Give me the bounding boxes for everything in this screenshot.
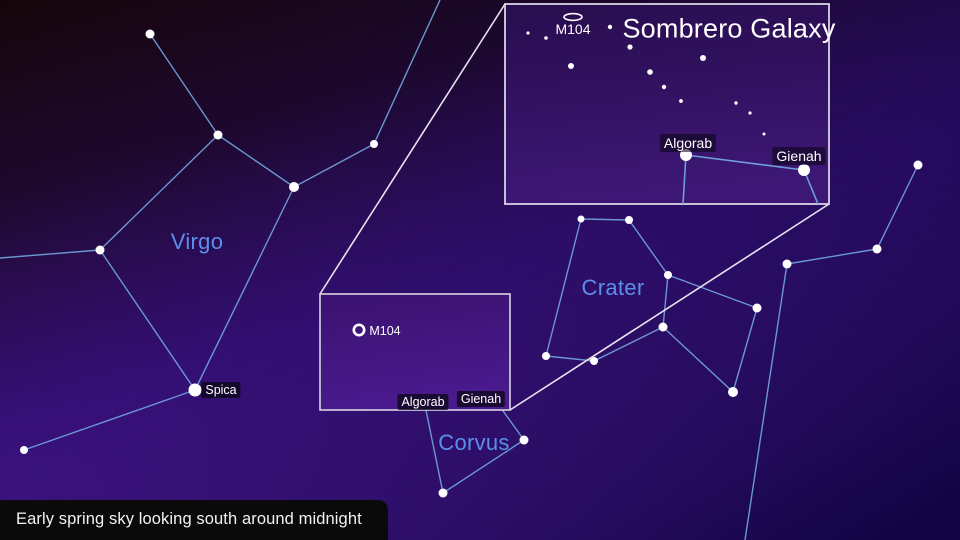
- inset-box[interactable]: [505, 4, 829, 204]
- star-chart-stage: VirgoCraterCorvusSpicaAlgorabGienahM104A…: [0, 0, 960, 540]
- star[interactable]: [542, 352, 550, 360]
- inset-star[interactable]: [647, 69, 653, 75]
- star[interactable]: [753, 304, 762, 313]
- inset-star[interactable]: [568, 63, 574, 69]
- inset-star[interactable]: [662, 85, 666, 89]
- inset-star[interactable]: [798, 164, 810, 176]
- inset-panel: [505, 4, 829, 204]
- inset-star[interactable]: [680, 149, 692, 161]
- inset-star[interactable]: [763, 133, 766, 136]
- star[interactable]: [625, 216, 633, 224]
- caption-text: Early spring sky looking south around mi…: [16, 510, 362, 528]
- star[interactable]: [214, 131, 223, 140]
- star[interactable]: [370, 140, 378, 148]
- star[interactable]: [873, 245, 882, 254]
- inset-star[interactable]: [627, 44, 632, 49]
- star[interactable]: [659, 323, 668, 332]
- inset-star[interactable]: [734, 101, 737, 104]
- inset-star[interactable]: [608, 25, 612, 29]
- star[interactable]: [96, 246, 105, 255]
- detail-box[interactable]: [320, 294, 510, 410]
- inset-star[interactable]: [700, 55, 706, 61]
- star[interactable]: [728, 387, 738, 397]
- star[interactable]: [189, 384, 202, 397]
- star[interactable]: [146, 30, 155, 39]
- star[interactable]: [289, 182, 299, 192]
- sky-canvas: [0, 0, 960, 540]
- star[interactable]: [664, 271, 672, 279]
- star[interactable]: [914, 161, 923, 170]
- inset-star[interactable]: [526, 31, 529, 34]
- inset-star[interactable]: [544, 36, 548, 40]
- constellation-line: [581, 219, 629, 220]
- inset-star[interactable]: [679, 99, 683, 103]
- star[interactable]: [520, 436, 529, 445]
- star[interactable]: [20, 446, 28, 454]
- star[interactable]: [439, 489, 448, 498]
- star[interactable]: [578, 216, 585, 223]
- inset-star[interactable]: [748, 111, 751, 114]
- star[interactable]: [783, 260, 792, 269]
- caption-bar: Early spring sky looking south around mi…: [0, 500, 388, 540]
